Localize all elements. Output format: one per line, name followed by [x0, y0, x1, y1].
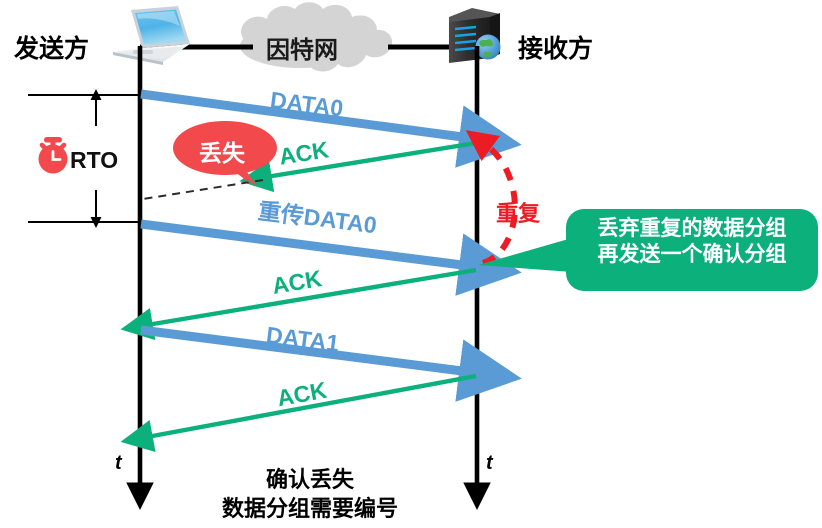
diagram-caption: 确认丢失 数据分组需要编号 — [150, 466, 470, 523]
duplicate-label: 重复 — [496, 196, 540, 228]
loss-bubble-text: 丢失 — [199, 134, 245, 168]
stopwatch-icon — [39, 137, 68, 174]
timeout-dashed-line — [143, 180, 263, 199]
callout-line-2: 再发送一个确认分组 — [566, 242, 818, 268]
callout-text: 丢弃重复的数据分组 再发送一个确认分组 — [566, 216, 818, 267]
callout-line-1: 丢弃重复的数据分组 — [566, 216, 818, 242]
cloud-label: 因特网 — [266, 30, 338, 65]
sender-axis-label: t — [115, 452, 122, 475]
receiver-axis-label: t — [486, 452, 493, 475]
caption-line-2: 数据分组需要编号 — [150, 495, 470, 524]
rto-label: RTO — [70, 147, 118, 174]
receiver-label: 接收方 — [518, 29, 593, 65]
laptop-icon — [113, 6, 190, 65]
protocol-sequence-diagram: 发送方 接收方 因特网 RTO DATA0 ACK 重传DATA0 ACK DA… — [0, 0, 822, 528]
caption-line-1: 确认丢失 — [150, 466, 470, 495]
sender-label: 发送方 — [14, 29, 89, 65]
